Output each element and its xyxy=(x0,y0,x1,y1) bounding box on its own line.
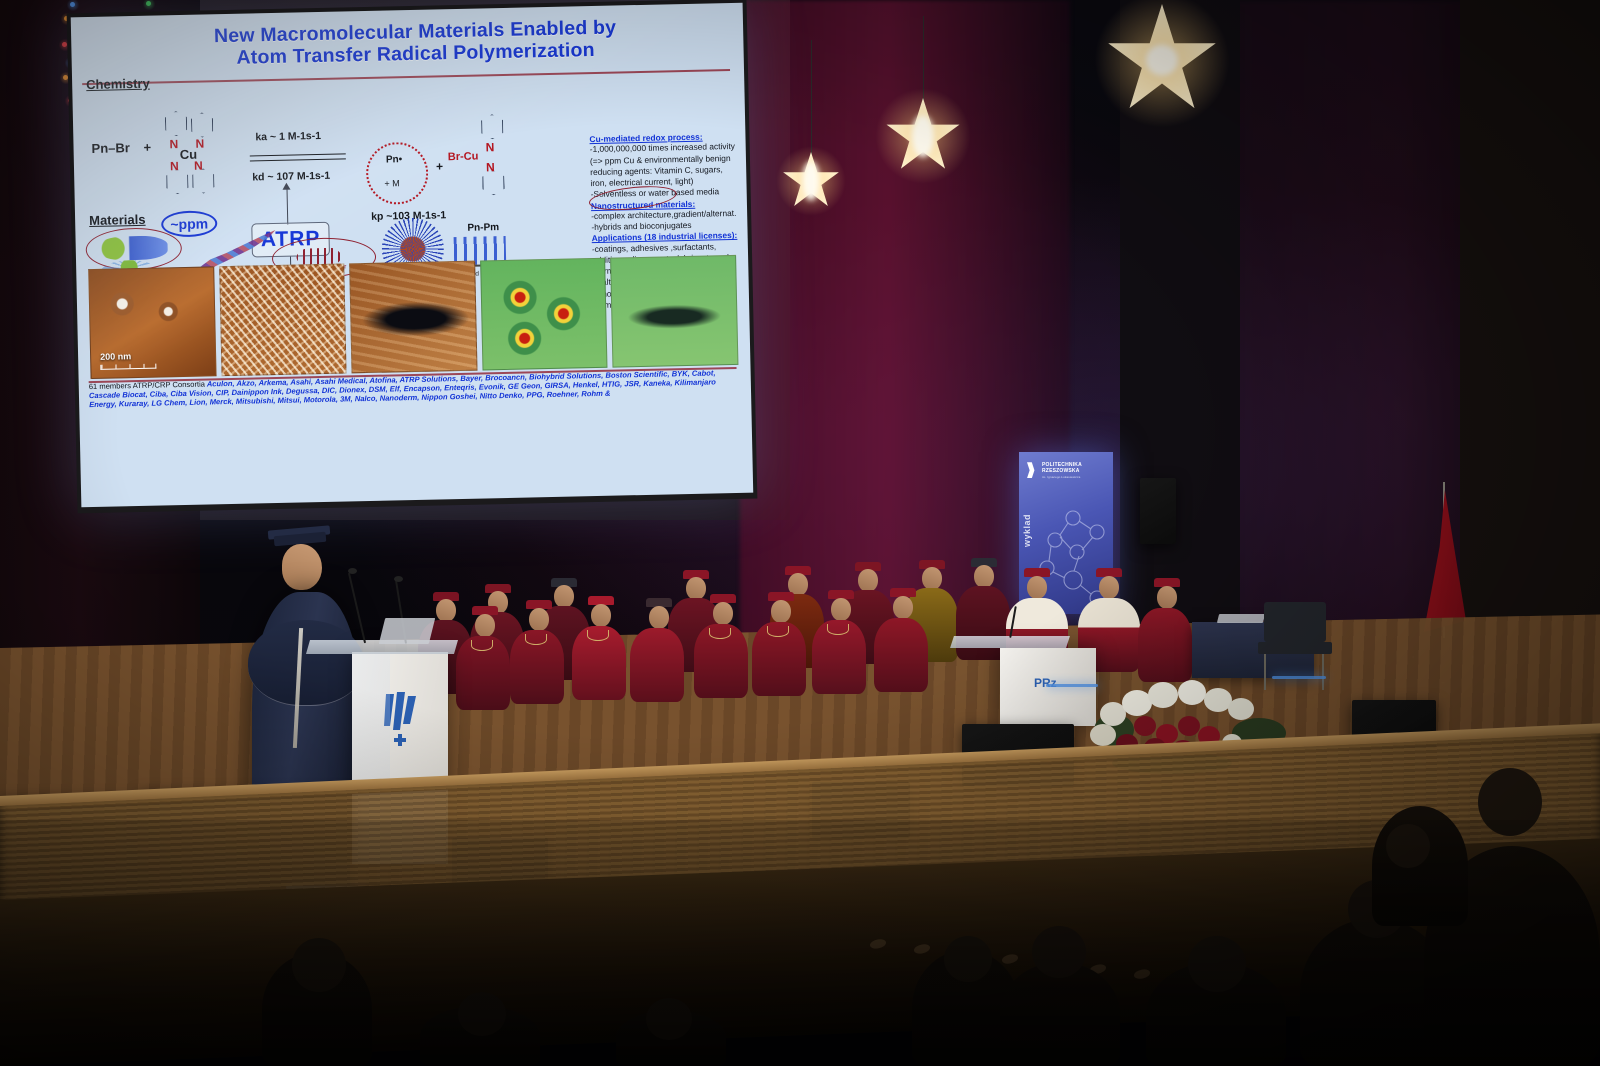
micrograph-afm-particles: 200 nm xyxy=(88,266,216,379)
academic-head xyxy=(475,614,495,637)
copper-ligand-left: N N N N Cu xyxy=(159,110,227,207)
scheme-reactant: Pn–Br xyxy=(91,140,130,156)
microphone-head-icon xyxy=(348,568,357,574)
micrograph-nanotube xyxy=(349,261,477,374)
slide-section-chemistry: Chemistry xyxy=(86,76,150,92)
speaker-face xyxy=(282,544,322,590)
slide-divider-top xyxy=(82,69,730,85)
scheme-product: Br-Cu xyxy=(448,151,479,164)
audience-head xyxy=(944,936,992,982)
chain-of-office xyxy=(471,640,493,651)
slide-section-materials: Materials xyxy=(89,212,146,228)
stage-led-strip-b xyxy=(1046,684,1098,687)
banner-subtitle: im. Ignacego Łukasiewicza xyxy=(1042,475,1082,479)
audience-head xyxy=(1188,936,1246,992)
audience-head xyxy=(458,992,506,1036)
rate-constant-kd: kd ~ 107 M-1s-1 xyxy=(252,170,330,184)
lectern-logo: PRz xyxy=(1034,676,1057,690)
scheme-plus: + xyxy=(143,140,151,155)
scheme-radical: Pn• xyxy=(386,154,403,165)
atrp-connector xyxy=(287,189,289,225)
audience-member xyxy=(1372,806,1468,926)
scale-bar: 200 nm xyxy=(100,351,156,370)
rate-constant-ka: ka ~ 1 M-1s-1 xyxy=(255,130,321,143)
banner-vertical-text: wyklad xyxy=(1022,514,1032,547)
stage-led-strip-c xyxy=(1272,676,1326,679)
audience-head xyxy=(646,998,692,1040)
line-array-speaker xyxy=(1140,478,1176,544)
propagation-ring xyxy=(366,142,429,205)
audience-head xyxy=(1478,768,1542,836)
micrograph-fluorescence xyxy=(480,258,608,371)
scheme-metal: Cu xyxy=(180,147,198,162)
copper-ligand-right: N N Br-Cu xyxy=(451,114,519,211)
projection-screen: New Macromolecular Materials Enabled by … xyxy=(67,0,758,513)
speaker-cape xyxy=(248,620,364,706)
equilibrium-arrows xyxy=(250,147,346,167)
scheme-termination: Pn-Pm xyxy=(467,222,499,234)
star-lantern-large xyxy=(1100,0,1224,118)
scheme-plus-2: + xyxy=(436,159,443,173)
politechnika-mark-icon xyxy=(1027,462,1039,478)
banner-institution-2: RZESZOWSKA xyxy=(1042,468,1082,474)
audience-head xyxy=(1032,926,1086,978)
star-lantern-small xyxy=(778,40,844,190)
audience-head xyxy=(292,938,346,992)
microphone-head-icon-2 xyxy=(394,576,403,582)
protein-conjugate-icon xyxy=(98,235,169,261)
micrograph-row: 200 nm xyxy=(88,255,738,379)
scheme-monomer: + M xyxy=(384,178,399,188)
star-lantern-medium xyxy=(880,16,966,176)
slide-title: New Macromolecular Materials Enabled by … xyxy=(105,15,726,72)
micrograph-fibrous xyxy=(219,263,347,376)
presentation-slide: New Macromolecular Materials Enabled by … xyxy=(71,3,754,508)
flag-cloth xyxy=(1422,490,1466,632)
audience-head xyxy=(1386,824,1430,868)
atrp-arrow-icon xyxy=(282,183,290,190)
micrograph-green-structure xyxy=(610,255,738,368)
auditorium-scene: New Macromolecular Materials Enabled by … xyxy=(0,0,1600,1066)
banner-logo: POLITECHNIKA RZESZOWSKA im. Ignacego Łuk… xyxy=(1027,462,1082,479)
presenter-laptop[interactable] xyxy=(379,618,435,644)
